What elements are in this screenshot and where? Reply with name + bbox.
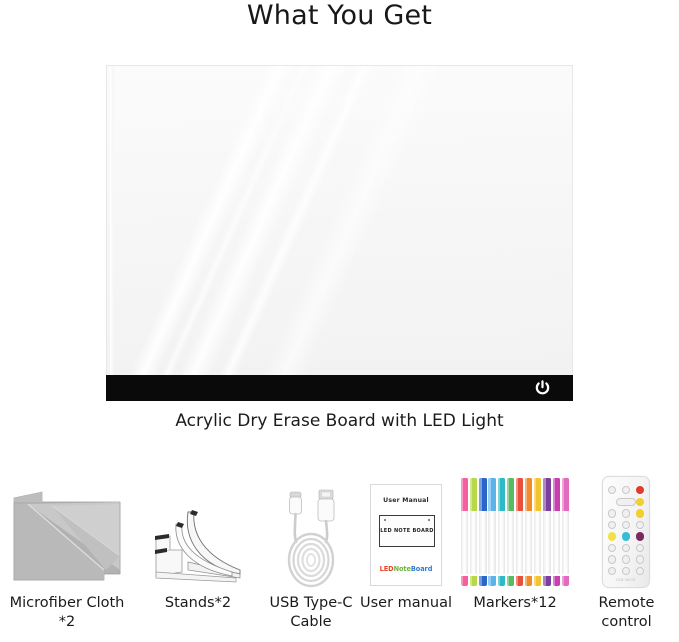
marker-barrel xyxy=(479,511,486,574)
gloss-streak-icon xyxy=(106,65,328,375)
power-icon xyxy=(534,380,551,397)
marker-cap xyxy=(461,478,468,511)
gloss-streak-icon xyxy=(143,65,382,375)
marker-barrel xyxy=(562,511,569,574)
usb-cable-icon xyxy=(258,470,364,592)
marker-barrel xyxy=(516,511,523,574)
page-title: What You Get xyxy=(0,0,679,32)
remote-button-row xyxy=(608,498,644,506)
marker-pen xyxy=(534,478,541,586)
remote-button-row xyxy=(608,509,644,517)
remote-button[interactable] xyxy=(608,544,616,552)
manual-cover-title: User Manual xyxy=(371,497,441,504)
remote-button[interactable] xyxy=(622,544,630,552)
marker-cap xyxy=(543,478,550,511)
marker-barrel xyxy=(525,511,532,574)
marker-tip xyxy=(534,576,541,586)
remote-button[interactable] xyxy=(622,555,630,563)
acrylic-board-surface xyxy=(106,65,573,375)
marker-pen xyxy=(507,478,514,586)
accessory-item-cloth: Microfiber Cloth *2 xyxy=(0,470,134,642)
remote-button[interactable] xyxy=(622,521,630,529)
remote-button-row xyxy=(608,544,644,552)
accessory-label-stands: Stands*2 xyxy=(142,594,254,613)
marker-barrel xyxy=(461,511,468,574)
marker-cap xyxy=(525,478,532,511)
remote-button[interactable] xyxy=(636,521,644,529)
marker-cap xyxy=(507,478,514,511)
remote-button[interactable] xyxy=(622,509,630,517)
remote-button-row xyxy=(608,567,644,575)
marker-pen xyxy=(562,478,569,586)
logo-part-led: LED xyxy=(380,565,394,573)
remote-button[interactable] xyxy=(622,486,630,494)
marker-cap xyxy=(534,478,541,511)
accessory-item-remote: LED NOTE Remote control xyxy=(574,470,679,642)
accessory-label-remote: Remote control xyxy=(574,594,679,632)
gloss-streak-icon xyxy=(227,65,475,375)
remote-button[interactable] xyxy=(608,486,616,494)
remote-footer-text: LED NOTE xyxy=(603,578,649,582)
hero-product-image xyxy=(106,65,573,403)
gloss-streak-icon xyxy=(124,65,345,375)
marker-pen xyxy=(479,478,486,586)
accessory-item-stands: Stands*2 xyxy=(142,470,254,642)
marker-tip xyxy=(461,576,468,586)
marker-cap xyxy=(479,478,486,511)
marker-tip xyxy=(488,576,495,586)
marker-cap xyxy=(516,478,523,511)
remote-button[interactable] xyxy=(636,486,644,494)
marker-barrel xyxy=(543,511,550,574)
remote-button-row xyxy=(608,521,644,529)
marker-cap xyxy=(562,478,569,511)
accessory-row: Microfiber Cloth *2 xyxy=(0,470,679,642)
marker-pen xyxy=(516,478,523,586)
marker-tip xyxy=(479,576,486,586)
hero-caption: Acrylic Dry Erase Board with LED Light xyxy=(0,410,679,432)
remote-button[interactable] xyxy=(636,498,644,506)
remote-button[interactable] xyxy=(608,521,616,529)
marker-cap xyxy=(488,478,495,511)
gloss-streak-icon xyxy=(182,65,408,375)
accessory-item-markers: Markers*12 xyxy=(456,470,574,642)
marker-pen xyxy=(470,478,477,586)
marker-pen xyxy=(525,478,532,586)
markers-icon xyxy=(456,470,574,592)
remote-button[interactable] xyxy=(608,567,616,575)
accessory-label-markers: Markers*12 xyxy=(456,594,574,613)
remote-control-icon: LED NOTE xyxy=(574,470,679,592)
marker-tip xyxy=(498,576,505,586)
manual-cover-product-name: LED NOTE BOARD xyxy=(380,528,434,534)
accessory-item-manual: User Manual LED NOTE BOARD LEDNoteBoard … xyxy=(356,470,456,642)
marker-tip xyxy=(516,576,523,586)
remote-button[interactable] xyxy=(636,532,644,540)
remote-button[interactable] xyxy=(636,544,644,552)
remote-button[interactable] xyxy=(636,567,644,575)
marker-pen xyxy=(543,478,550,586)
marker-tip xyxy=(553,576,560,586)
microfiber-cloth-icon xyxy=(0,470,134,592)
accessory-label-cable-line2: Cable xyxy=(258,613,364,632)
remote-button[interactable] xyxy=(608,532,616,540)
remote-button[interactable] xyxy=(622,567,630,575)
manual-brand-logo: LEDNoteBoard xyxy=(371,565,441,573)
remote-button-row xyxy=(608,486,644,494)
remote-button[interactable] xyxy=(608,555,616,563)
marker-cap xyxy=(498,478,505,511)
marker-pen xyxy=(488,478,495,586)
user-manual-icon: User Manual LED NOTE BOARD LEDNoteBoard xyxy=(356,470,456,592)
logo-part-board: Board xyxy=(411,565,432,573)
accessory-label-manual: User manual xyxy=(356,594,456,613)
accessory-label-cloth: Microfiber Cloth *2 xyxy=(0,594,134,632)
marker-barrel xyxy=(498,511,505,574)
accessory-item-cable: USB Type-C Cable xyxy=(258,470,364,642)
accessory-label-cable-line1: USB Type-C xyxy=(258,594,364,613)
acrylic-stand-icon xyxy=(142,470,254,592)
logo-part-note: Note xyxy=(394,565,411,573)
remote-button[interactable] xyxy=(616,498,636,506)
marker-barrel xyxy=(553,511,560,574)
remote-button[interactable] xyxy=(636,555,644,563)
remote-button[interactable] xyxy=(636,509,644,517)
manual-cover-illustration: LED NOTE BOARD xyxy=(379,515,435,547)
marker-barrel xyxy=(488,511,495,574)
remote-button-spacer xyxy=(608,498,616,506)
remote-button[interactable] xyxy=(622,532,630,540)
marker-tip xyxy=(470,576,477,586)
remote-button[interactable] xyxy=(608,509,616,517)
marker-pen xyxy=(553,478,560,586)
accessory-label-cable: USB Type-C Cable xyxy=(258,594,364,632)
marker-tip xyxy=(543,576,550,586)
marker-tip xyxy=(507,576,514,586)
marker-pen xyxy=(461,478,468,586)
marker-cap xyxy=(470,478,477,511)
marker-pen xyxy=(498,478,505,586)
marker-barrel xyxy=(534,511,541,574)
marker-tip xyxy=(525,576,532,586)
marker-barrel xyxy=(507,511,514,574)
marker-cap xyxy=(553,478,560,511)
remote-button-row xyxy=(608,532,644,540)
marker-barrel xyxy=(470,511,477,574)
marker-tip xyxy=(562,576,569,586)
led-base-bar xyxy=(106,375,573,401)
remote-button-row xyxy=(608,555,644,563)
